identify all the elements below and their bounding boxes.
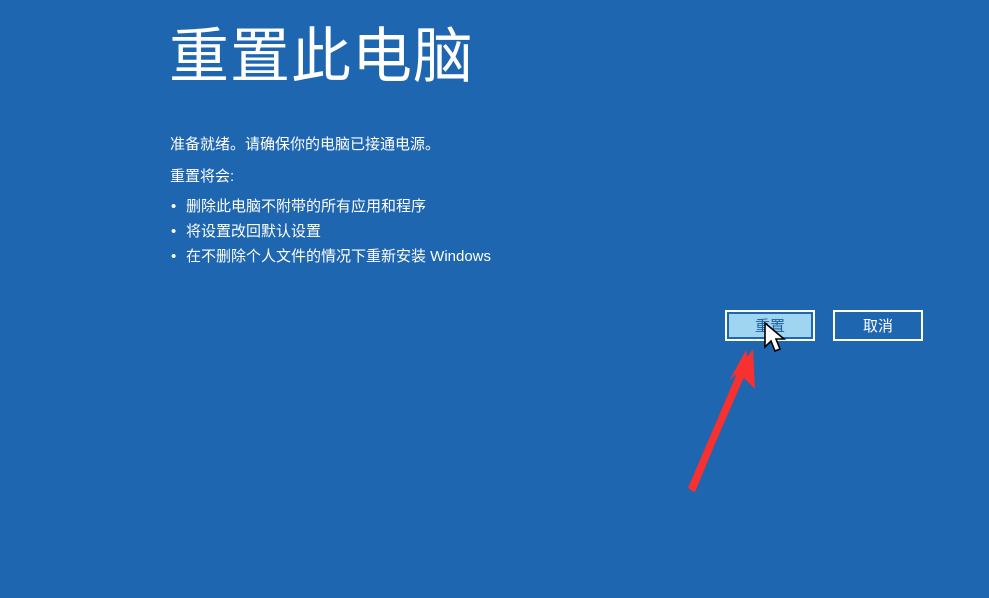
reset-effects-lead: 重置将会: <box>170 166 770 188</box>
reset-button[interactable]: 重置 <box>725 310 815 341</box>
bullet-icon: • <box>171 219 176 244</box>
list-item: • 在不删除个人文件的情况下重新安装 Windows <box>170 244 770 269</box>
list-item-label: 将设置改回默认设置 <box>186 223 321 240</box>
bullet-icon: • <box>171 244 176 269</box>
cancel-button[interactable]: 取消 <box>833 310 923 341</box>
arrow-up-right-icon <box>660 335 780 505</box>
reset-effects-list: • 删除此电脑不附带的所有应用和程序 • 将设置改回默认设置 • 在不删除个人文… <box>170 194 770 269</box>
list-item: • 将设置改回默认设置 <box>170 219 770 244</box>
bullet-icon: • <box>171 194 176 219</box>
list-item: • 删除此电脑不附带的所有应用和程序 <box>170 194 770 219</box>
list-item-label: 在不删除个人文件的情况下重新安装 Windows <box>186 248 491 265</box>
reset-this-pc-screen: 重置此电脑 准备就绪。请确保你的电脑已接通电源。 重置将会: • 删除此电脑不附… <box>0 0 989 598</box>
dialog-button-bar: 重置 取消 <box>725 310 923 341</box>
page-title: 重置此电脑 <box>169 22 474 91</box>
list-item-label: 删除此电脑不附带的所有应用和程序 <box>186 198 426 215</box>
reset-description-block: 准备就绪。请确保你的电脑已接通电源。 重置将会: • 删除此电脑不附带的所有应用… <box>170 134 770 269</box>
readiness-text: 准备就绪。请确保你的电脑已接通电源。 <box>170 134 770 156</box>
